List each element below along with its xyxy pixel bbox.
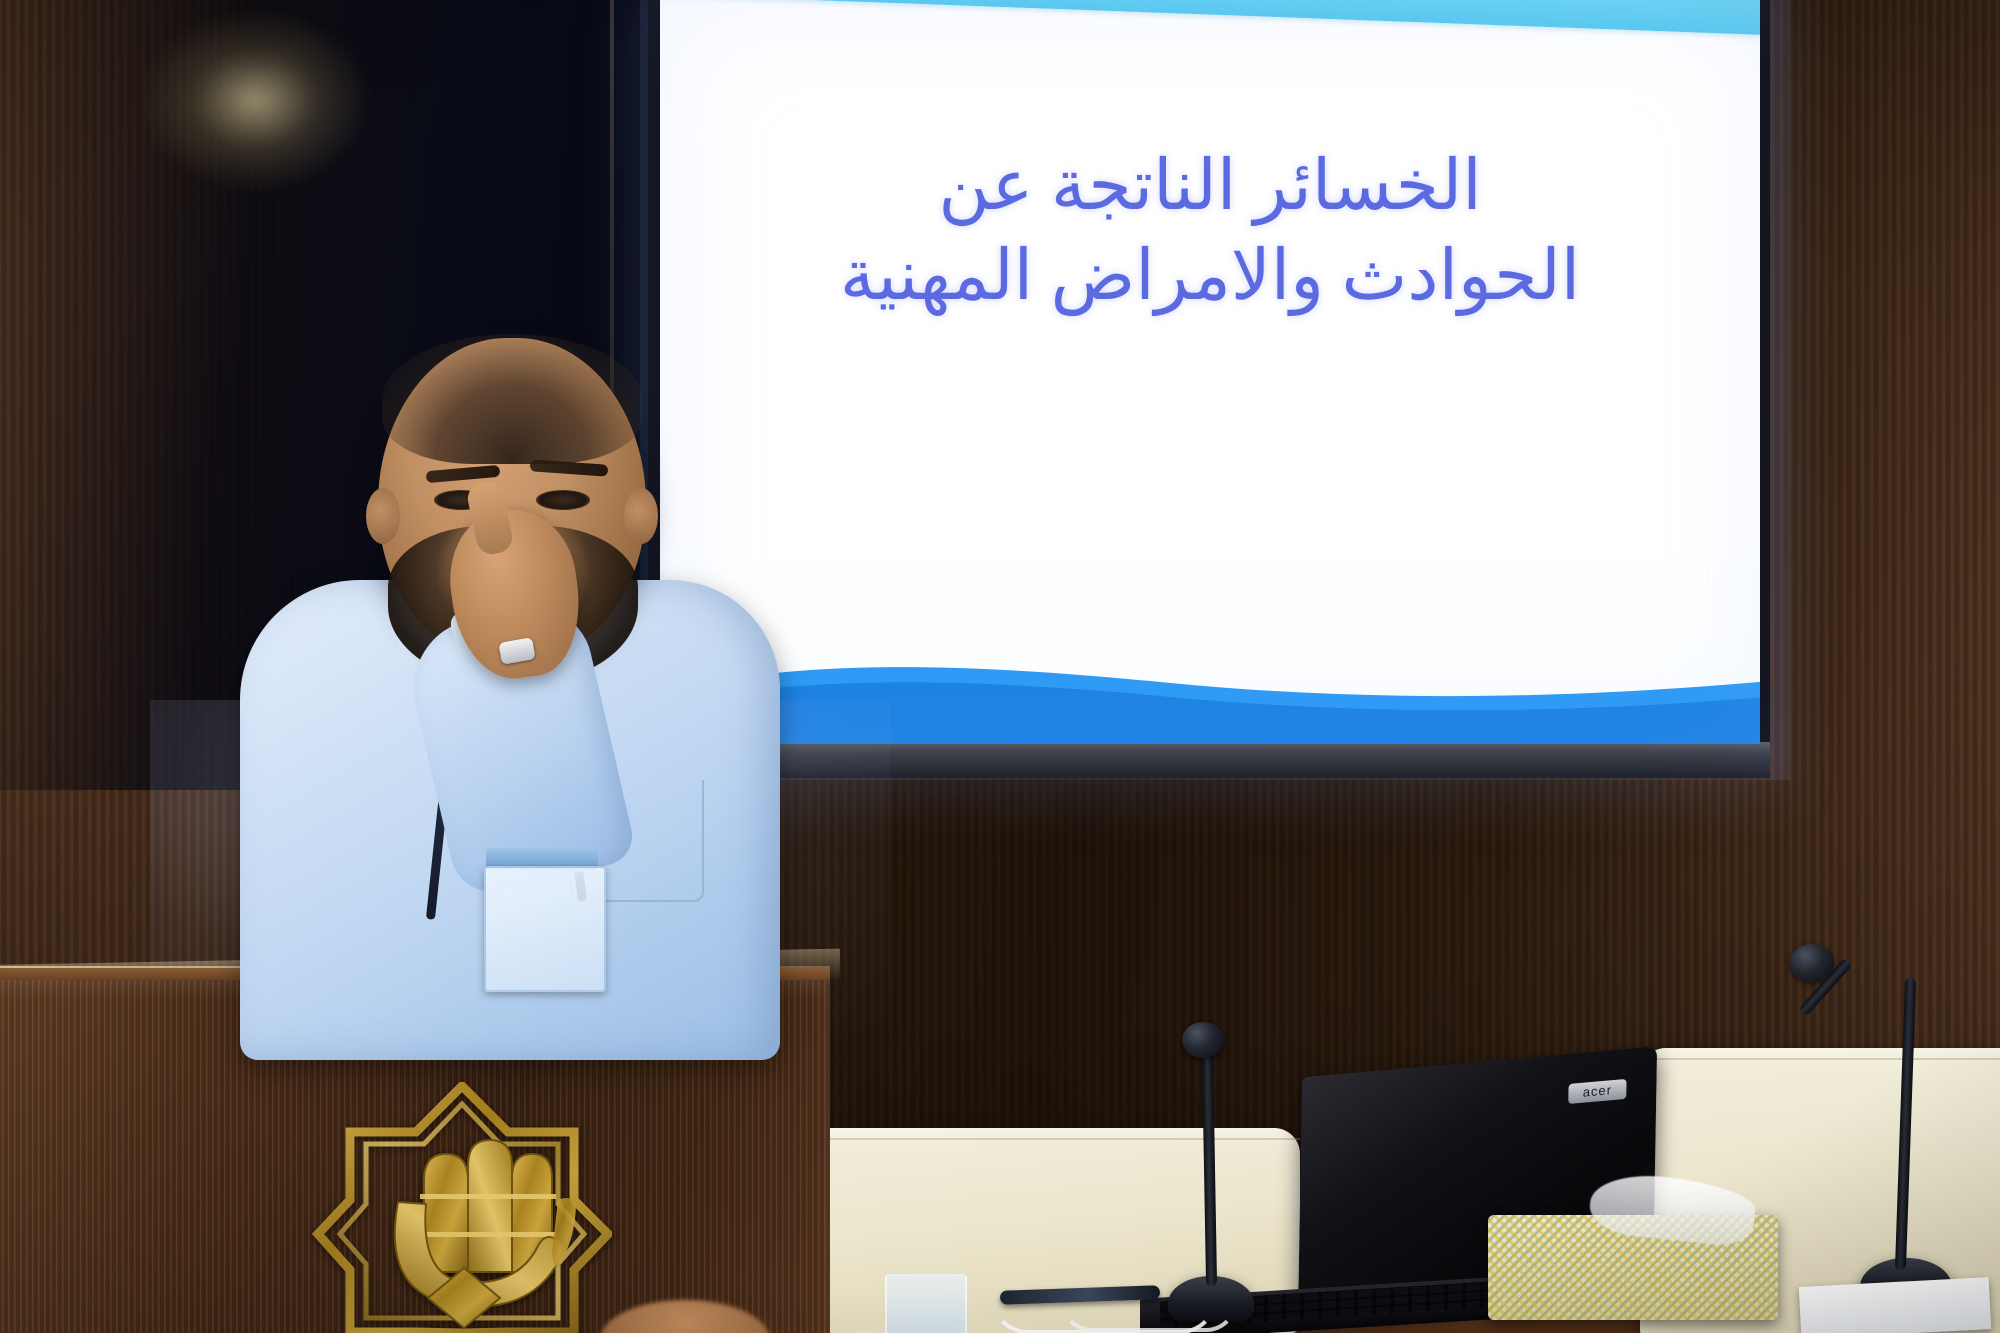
slide-accent-band-top	[660, 0, 1760, 42]
wave-shape-icon	[660, 598, 1760, 744]
projection-screen: الخسائر الناتجة عن الحوادث والامراض المه…	[660, 0, 1760, 744]
slide-accent-wave-bottom	[660, 598, 1760, 744]
chair-seam	[1640, 1058, 2000, 1060]
slide-title: الخسائر الناتجة عن الحوادث والامراض المه…	[660, 142, 1760, 321]
arabic-calligraphy-emblem-icon	[312, 1082, 612, 1333]
water-glass[interactable]	[885, 1274, 967, 1333]
conference-room-scene: الخسائر الناتجة عن الحوادث والامراض المه…	[0, 0, 2000, 1333]
paper-sheet[interactable]	[1799, 1277, 1991, 1333]
slide-title-line-1: الخسائر الناتجة عن	[730, 142, 1690, 232]
slide-title-line-2: الحوادث والامراض المهنية	[730, 232, 1690, 322]
cable-loop-2	[1060, 1300, 1238, 1332]
podium-emblem	[312, 1082, 612, 1333]
presenter-eye-right	[536, 490, 590, 510]
laptop-brand-logo: acer	[1568, 1079, 1626, 1104]
presenter-ear-left	[366, 488, 400, 544]
chair-seam	[800, 1138, 1300, 1140]
microphone-head-left	[1182, 1022, 1224, 1058]
presenter-ear-right	[624, 488, 658, 544]
presenter-hair	[382, 334, 642, 464]
presenter-id-badge	[484, 866, 606, 992]
presentation-slide: الخسائر الناتجة عن الحوادث والامراض المه…	[660, 0, 1760, 744]
